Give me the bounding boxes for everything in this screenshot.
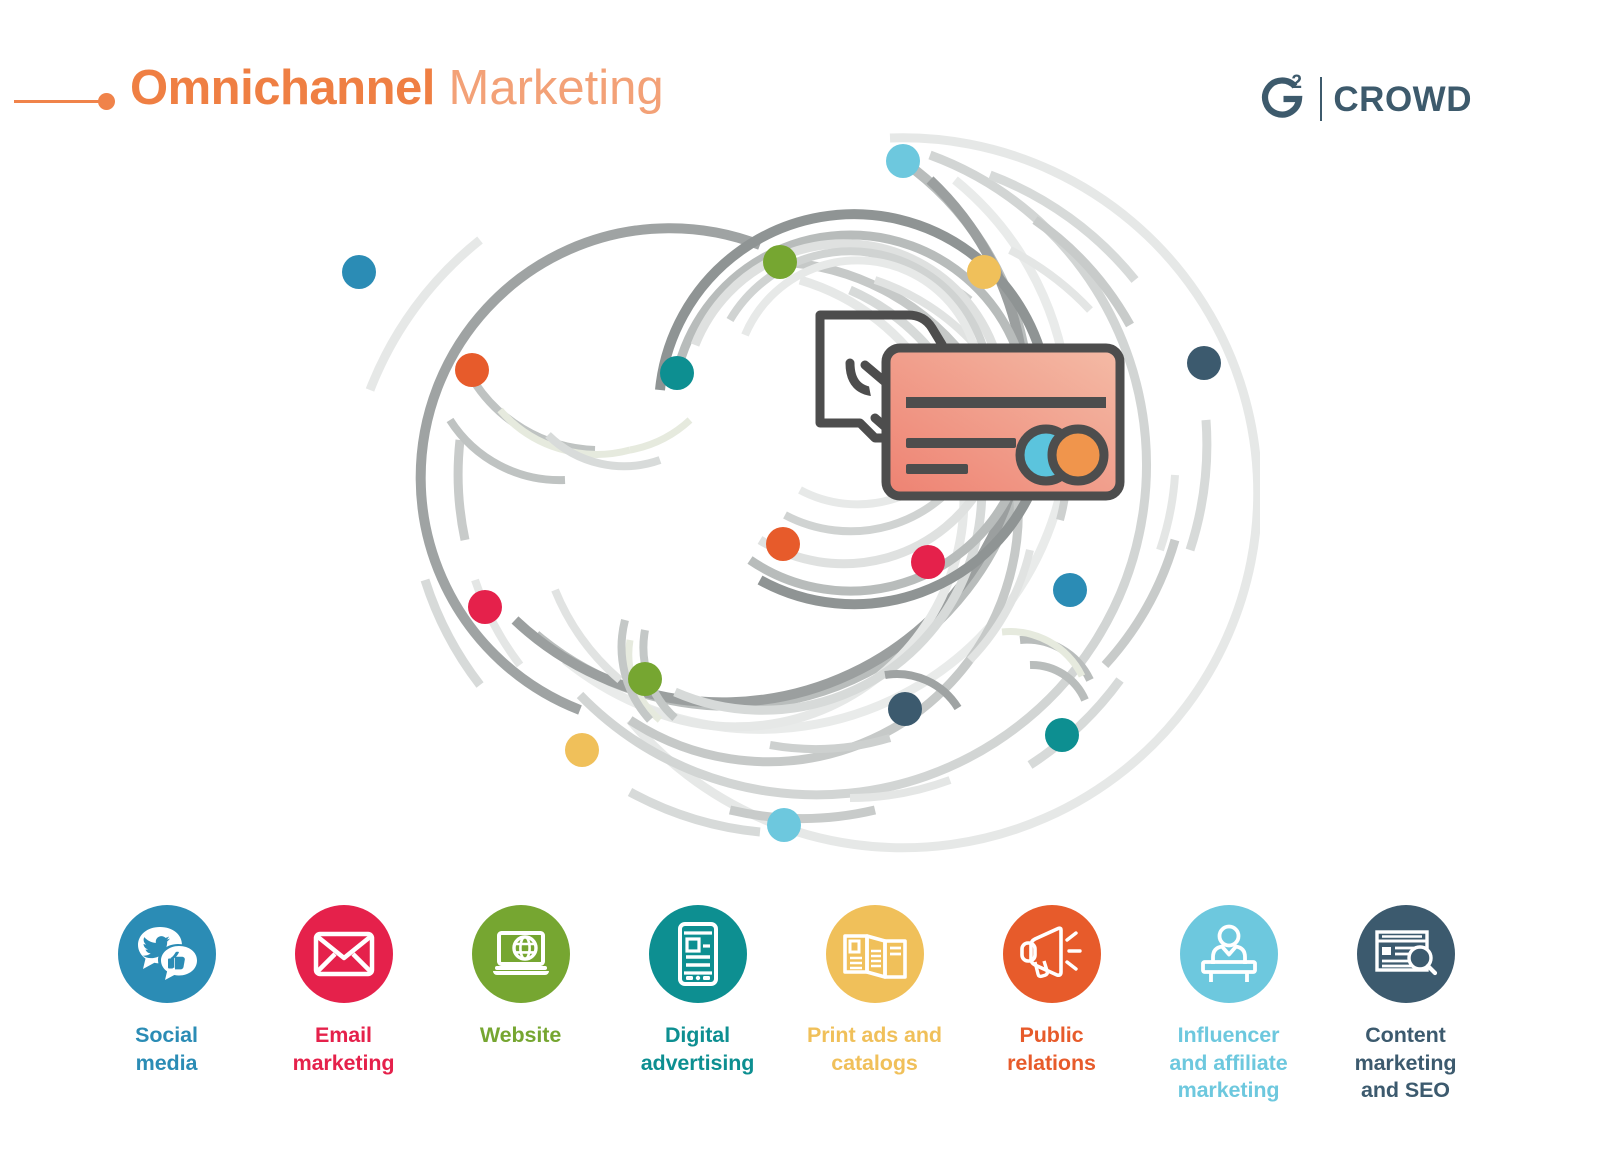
open-brochure-icon bbox=[826, 905, 924, 1003]
infographic-page: Omnichannel Marketing 2 CROWD bbox=[0, 0, 1600, 1175]
channel-website[interactable]: Website bbox=[432, 905, 609, 1050]
node-website-upper bbox=[763, 245, 797, 279]
laptop-globe-icon bbox=[472, 905, 570, 1003]
browser-search-icon bbox=[1357, 905, 1455, 1003]
logo-wordmark: CROWD bbox=[1333, 82, 1472, 117]
channel-label: Publicrelations bbox=[1007, 1022, 1096, 1077]
node-content-lower bbox=[888, 692, 922, 726]
channel-list: Socialmedia Emailmarketing bbox=[78, 905, 1538, 1135]
g2-superscript: 2 bbox=[1291, 73, 1302, 92]
node-email-left bbox=[468, 590, 502, 624]
megaphone-icon bbox=[1003, 905, 1101, 1003]
g2-crowd-logo: 2 CROWD bbox=[1259, 72, 1472, 126]
title-rule bbox=[14, 100, 106, 103]
node-public-inner bbox=[766, 527, 800, 561]
node-social-right bbox=[1053, 573, 1087, 607]
page-title-bold: Omnichannel bbox=[130, 61, 435, 115]
node-social-left bbox=[342, 255, 376, 289]
g2-mark-icon: 2 bbox=[1259, 75, 1311, 123]
page-title: Omnichannel Marketing bbox=[130, 64, 664, 113]
channel-label: Socialmedia bbox=[135, 1022, 198, 1077]
node-email-inner-right bbox=[911, 545, 945, 579]
channel-label: Website bbox=[480, 1022, 561, 1050]
node-content-right bbox=[1187, 346, 1221, 380]
title-dot bbox=[98, 93, 115, 110]
node-print-lower-left bbox=[565, 733, 599, 767]
channel-print-ads-catalogs[interactable]: Print ads andcatalogs bbox=[786, 905, 963, 1077]
envelope-icon bbox=[295, 905, 393, 1003]
speaker-podium-icon bbox=[1180, 905, 1278, 1003]
node-social-top bbox=[886, 144, 920, 178]
spiral-rings bbox=[370, 138, 1258, 848]
node-print-upper-right bbox=[967, 255, 1001, 289]
channel-content-marketing-seo[interactable]: Contentmarketingand SEO bbox=[1317, 905, 1494, 1105]
channel-label: Print ads andcatalogs bbox=[807, 1022, 942, 1077]
channel-label: Digitaladvertising bbox=[641, 1022, 755, 1077]
channel-influencer-affiliate[interactable]: Influencerand affiliatemarketing bbox=[1140, 905, 1317, 1105]
node-website-lower bbox=[628, 662, 662, 696]
node-public-left bbox=[455, 353, 489, 387]
node-social-bottom bbox=[767, 808, 801, 842]
channel-email-marketing[interactable]: Emailmarketing bbox=[255, 905, 432, 1077]
social-bubbles-icon bbox=[118, 905, 216, 1003]
channel-label: Influencerand affiliatemarketing bbox=[1169, 1022, 1287, 1105]
channel-digital-advertising[interactable]: Digitaladvertising bbox=[609, 905, 786, 1077]
channel-social-media[interactable]: Socialmedia bbox=[78, 905, 255, 1077]
node-digital-lower-right bbox=[1045, 718, 1079, 752]
mobile-ad-icon bbox=[649, 905, 747, 1003]
page-title-light: Marketing bbox=[435, 61, 664, 115]
channel-label: Contentmarketingand SEO bbox=[1355, 1022, 1457, 1105]
omnichannel-spiral-diagram bbox=[330, 120, 1260, 880]
channel-public-relations[interactable]: Publicrelations bbox=[963, 905, 1140, 1077]
node-digital-inner-left bbox=[660, 356, 694, 390]
channel-label: Emailmarketing bbox=[293, 1022, 395, 1077]
logo-divider bbox=[1320, 77, 1322, 121]
